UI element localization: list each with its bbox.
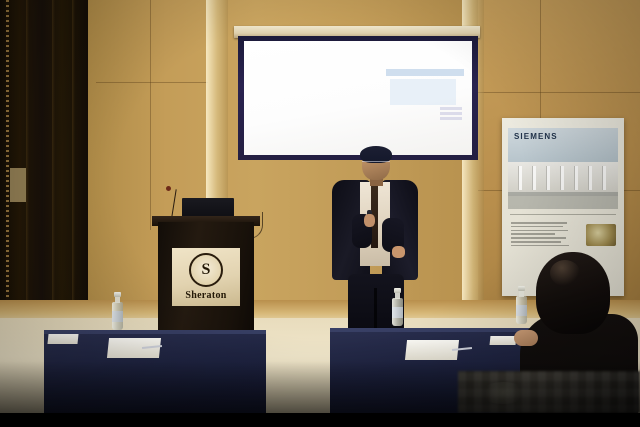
banner-column [546,166,550,190]
bottle-neck [395,292,400,299]
bottle-cap-icon [114,292,121,297]
curtain-fold [72,0,75,330]
wall-seam [478,92,640,93]
slide-widget-header [386,69,464,76]
siemens-logo: SIEMENS [514,132,558,141]
banner-column [532,166,536,190]
banner-column [560,166,564,190]
wall-seam [150,0,151,230]
banner-text-line [511,245,569,247]
bottle-cap-icon [394,288,401,293]
slide-widget-row [440,112,462,115]
projection-screen[interactable] [244,41,472,155]
wall-seam [96,82,208,83]
banner-text-line [511,230,568,232]
notepad [47,334,78,344]
sheraton-seal-icon: S [189,253,223,287]
banner-text-line [511,226,563,228]
banner-text-line [511,237,566,239]
water-bottle [392,288,403,326]
presenter-hand-left [364,214,375,227]
notepad [405,340,459,360]
banner-thumbnail-image [586,224,616,246]
slide-widget-row [440,107,462,110]
conference-photo: SIEMENS S Sheraton [0,0,640,427]
presenter-hand-right [392,246,405,258]
slide-widget [386,69,464,121]
bottle-neck [115,296,120,303]
banner-text-line [511,233,555,235]
banner-text-line [511,222,567,224]
banner-column [588,166,592,190]
banner-building-image [508,162,618,196]
slide-widget-row [440,117,462,120]
bottle-label [392,307,403,318]
curtain-fold [26,0,29,330]
mosaic-glow [480,382,526,404]
banner-column [602,166,606,190]
curtain-tag [10,168,26,202]
bottom-letterbox [0,413,640,427]
banner-column [574,166,578,190]
curtain-fold [52,0,55,330]
banner-headline [508,192,618,209]
sheraton-wordmark: Sheraton [185,290,226,301]
slide-widget-body [390,79,456,105]
window-curtain [0,0,88,330]
banner-text-line [511,241,561,243]
banner-body-text [511,222,569,248]
attendee-hair-highlight [550,260,580,286]
beaded-chain [6,0,9,318]
presenter [330,148,422,334]
eyeglasses-icon [362,161,390,167]
sheraton-plaque: S Sheraton [172,248,240,306]
water-bottle [112,292,123,330]
banner-divider [510,214,616,215]
podium-microphone-icon [166,186,171,191]
attendee-hand [514,330,538,346]
bottle-label [112,311,123,322]
notepad [107,338,161,358]
banner-column [518,166,522,190]
